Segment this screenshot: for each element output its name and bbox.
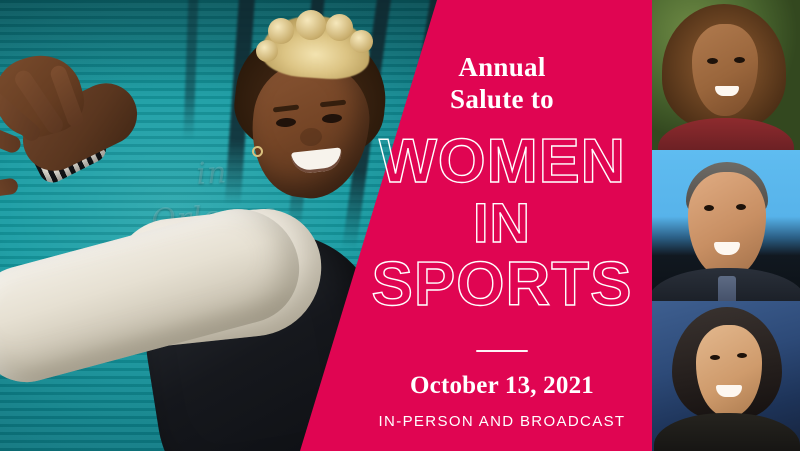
promo-graphic: in Orleans bbox=[0, 0, 800, 451]
event-format: IN-PERSON AND BROADCAST bbox=[379, 413, 626, 430]
thumb bbox=[0, 177, 19, 199]
divider-rule bbox=[476, 350, 528, 352]
honoree-portrait-3 bbox=[652, 301, 800, 451]
main-title: WOMEN IN SPORTS bbox=[372, 133, 633, 314]
honoree-portrait-2 bbox=[652, 150, 800, 300]
portrait-eye bbox=[707, 58, 718, 64]
eyebrow-line-2: Salute to bbox=[450, 84, 554, 116]
honoree-portrait-1 bbox=[652, 0, 800, 150]
title-line-sports: SPORTS bbox=[372, 256, 633, 314]
event-text-block: Annual Salute to WOMEN IN SPORTS October… bbox=[352, 0, 652, 451]
hair-curl bbox=[296, 10, 326, 40]
portrait-eye bbox=[737, 353, 747, 358]
event-date: October 13, 2021 bbox=[410, 372, 594, 400]
portrait-eye bbox=[710, 355, 720, 360]
honoree-portrait-strip bbox=[652, 0, 800, 451]
portrait-shoulders bbox=[658, 118, 794, 150]
hair-curl bbox=[256, 40, 278, 62]
portrait-eye bbox=[734, 57, 745, 63]
hair-curl bbox=[326, 14, 353, 41]
athlete-earring bbox=[252, 146, 263, 157]
title-line-in: IN bbox=[372, 197, 633, 250]
portrait-smile bbox=[716, 385, 742, 397]
portrait-smile bbox=[715, 86, 739, 96]
portrait-face bbox=[688, 172, 766, 278]
hair-curl bbox=[268, 18, 294, 44]
portrait-shoulders bbox=[654, 413, 800, 451]
eyebrow-line-1: Annual bbox=[450, 52, 554, 84]
title-line-women: WOMEN bbox=[373, 133, 631, 191]
eyebrow-heading: Annual Salute to bbox=[450, 52, 554, 115]
portrait-necktie bbox=[718, 276, 736, 300]
